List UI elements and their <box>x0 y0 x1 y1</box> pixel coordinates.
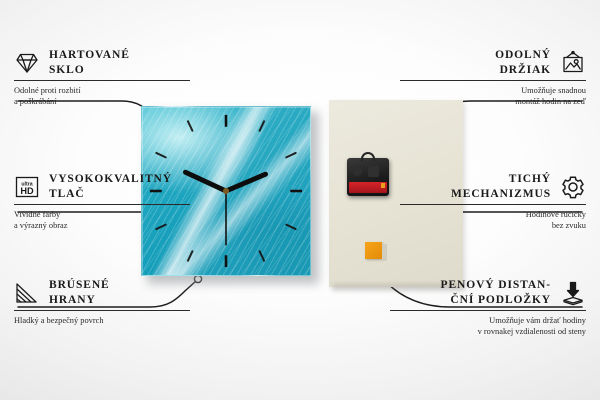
mechanism-housing-detail <box>368 166 379 177</box>
diamond-icon <box>14 50 40 76</box>
battery <box>349 182 387 193</box>
feature-desc-line1: Hladký a bezpečný povrch <box>14 315 190 326</box>
feature-foam-spacers: PENOVÝ DISTAN- ČNÍ PODLOŽKY Umožňuje vám… <box>390 278 586 337</box>
divider <box>14 80 190 81</box>
ultra-hd-icon: ultra HD <box>14 174 40 200</box>
feature-desc-line2: a výrazný obraz <box>14 220 190 231</box>
feature-desc-line1: Vividné farby <box>14 209 190 220</box>
feature-title-line2: ČNÍ PODLOŽKY <box>450 293 551 308</box>
minute-hand <box>185 172 226 191</box>
feature-ground-edges: BRÚSENÉ HRANY Hladký a bezpečný povrch <box>14 278 190 326</box>
feature-title-line1: HARTOVANÉ <box>49 48 130 63</box>
feature-title-line2: DRŽIAK <box>500 63 551 78</box>
mechanism-knob <box>353 167 362 176</box>
feature-title-line1: TICHÝ <box>509 172 551 187</box>
foam-spacer-side <box>382 244 387 261</box>
feature-title-line2: TLAČ <box>49 187 172 202</box>
feature-title-line1: BRÚSENÉ <box>49 278 110 293</box>
feature-title-line1: ODOLNÝ <box>495 48 551 63</box>
feature-silent-mechanism: TICHÝ MECHANIZMUS Hodinové ručičky bez z… <box>400 172 586 231</box>
feature-desc-line2: montáž hodin na zeď <box>400 96 586 107</box>
divider <box>400 204 586 205</box>
feature-title-line1: PENOVÝ DISTAN- <box>441 278 551 293</box>
feature-desc-line1: Odolné proti rozbití <box>14 85 190 96</box>
feature-title-line2: HRANY <box>49 293 110 308</box>
feature-durable-hanger: ODOLNÝ DRŽIAK Umožňuje snadnou montáž ho… <box>400 48 586 107</box>
hatched-edge-icon <box>14 280 40 306</box>
divider <box>14 204 190 205</box>
divider <box>400 80 586 81</box>
feature-tempered-glass: HARTOVANÉ SKLO Odolné proti rozbití a po… <box>14 48 190 107</box>
battery-terminal <box>381 183 385 188</box>
clock-mechanism <box>347 158 389 196</box>
hand-hub <box>223 188 229 194</box>
feature-desc-line1: Hodinové ručičky <box>400 209 586 220</box>
infographic-canvas: HARTOVANÉ SKLO Odolné proti rozbití a po… <box>0 0 600 400</box>
feature-high-quality-print: ultra HD VYSOKOKVALITNÝ TLAČ Vividné far… <box>14 172 190 231</box>
gear-icon <box>560 174 586 200</box>
feature-desc-line2: a poškrábání <box>14 96 190 107</box>
press-down-icon <box>560 280 586 306</box>
feature-desc-line2: bez zvuku <box>400 220 586 231</box>
picture-hanger-icon <box>560 50 586 76</box>
feature-desc-line1: Umožňuje snadnou <box>400 85 586 96</box>
hour-hand <box>226 174 266 191</box>
divider <box>390 310 586 311</box>
feature-desc-line2: v rovnakej vzdialenosti od steny <box>390 326 586 337</box>
mechanism-hanger-loop <box>361 152 375 161</box>
feature-desc-line1: Umožňuje vám držať hodiny <box>390 315 586 326</box>
feature-title-line2: SKLO <box>49 63 130 78</box>
svg-text:HD: HD <box>20 186 34 196</box>
feature-title-line2: MECHANIZMUS <box>451 187 551 202</box>
foam-spacer-pad <box>365 242 382 259</box>
feature-title-line1: VYSOKOKVALITNÝ <box>49 172 172 187</box>
divider <box>14 310 190 311</box>
